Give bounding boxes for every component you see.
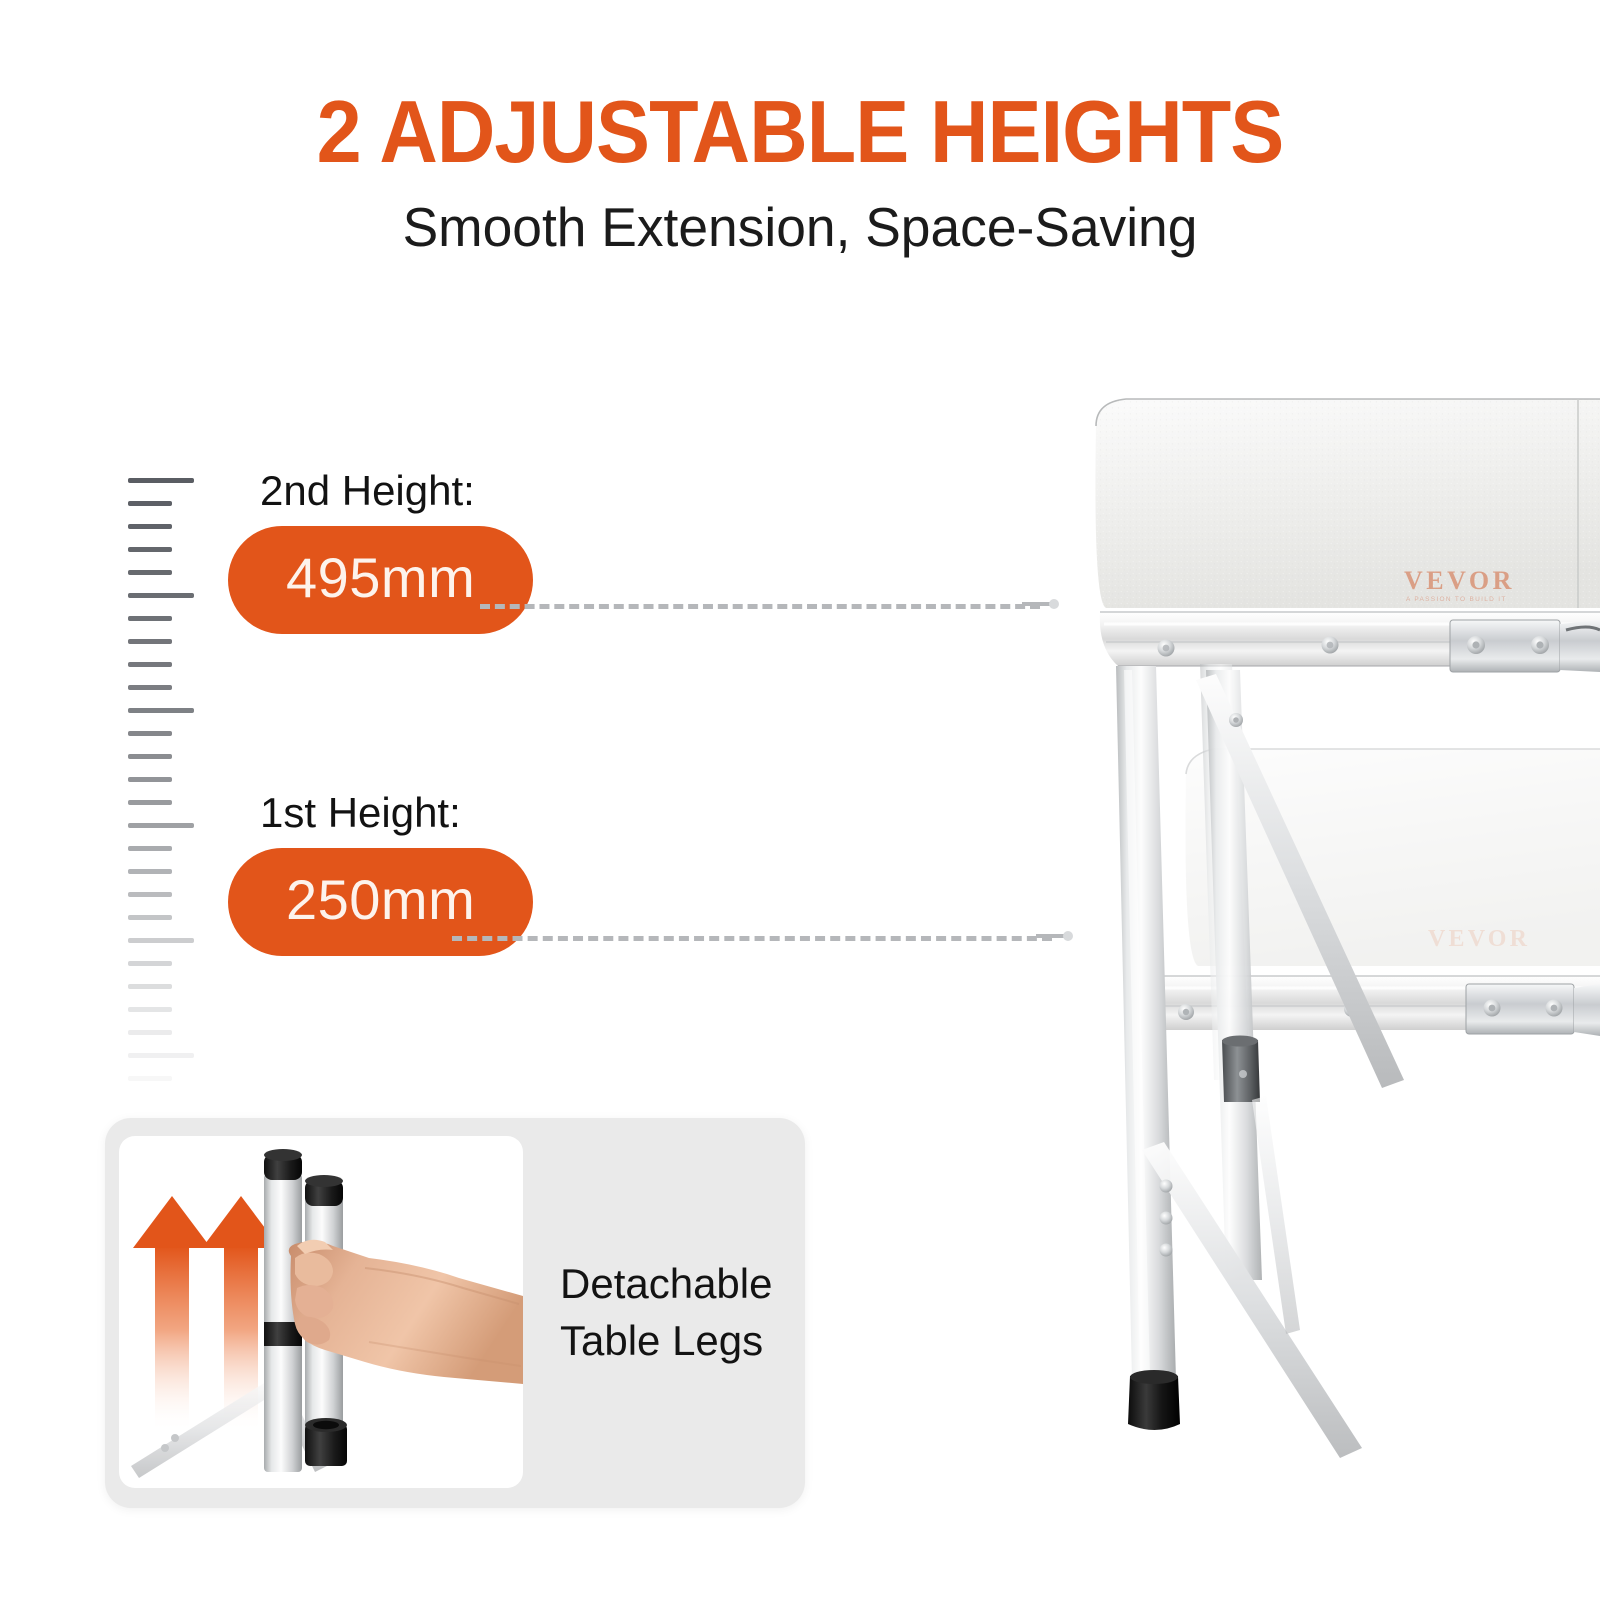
ruler-tick (128, 708, 194, 713)
ruler-tick (128, 570, 172, 575)
ruler-tick (128, 685, 172, 690)
hinge-plate-upper (1450, 620, 1600, 672)
ruler-tick (128, 984, 172, 989)
second-height-label: 2nd Height: (260, 470, 533, 512)
ruler-tick (128, 1076, 172, 1081)
leader-endpoint-lower (1036, 931, 1073, 941)
ruler-tick (128, 1030, 172, 1035)
ruler-tick (128, 731, 172, 736)
table-top-upper: VEVOR A PASSION TO BUILD IT (1085, 390, 1600, 672)
leader-endpoint-upper (1022, 599, 1059, 609)
up-arrow-icon (133, 1196, 211, 1432)
ruler-tick (128, 547, 172, 552)
table-leg-front (1116, 666, 1180, 1430)
svg-text:VEVOR: VEVOR (1404, 566, 1515, 595)
ruler-tick (128, 639, 172, 644)
ruler-tick (128, 754, 172, 759)
leg-collar (1222, 1036, 1260, 1103)
ruler-tick (128, 869, 172, 874)
ruler-tick (128, 915, 172, 920)
second-height-badge: 495mm (228, 526, 533, 634)
svg-text:VEVOR: VEVOR (1428, 926, 1530, 952)
caption-line-1: Detachable (560, 1256, 772, 1313)
ruler-tick (128, 800, 172, 805)
ruler-tick (128, 1007, 172, 1012)
ruler-tick (128, 501, 172, 506)
ruler-tick (128, 524, 172, 529)
leader-line-first-height (452, 936, 1052, 941)
ruler-tick (128, 823, 194, 828)
ruler-tick (128, 662, 172, 667)
ruler-tick (128, 593, 194, 598)
leader-line-second-height (480, 604, 1040, 609)
caption-line-2: Table Legs (560, 1313, 772, 1370)
callout-second-height: 2nd Height: 495mm (228, 470, 533, 634)
ruler-tick (128, 892, 172, 897)
detachable-legs-panel: Detachable Table Legs (105, 1118, 805, 1508)
callout-first-height: 1st Height: 250mm (228, 792, 533, 956)
page-subtitle: Smooth Extension, Space-Saving (24, 200, 1576, 255)
height-ruler (128, 478, 214, 1078)
vevor-logo-lower: VEVOR (1428, 926, 1530, 952)
first-height-label: 1st Height: (260, 792, 533, 834)
vevor-logo-upper: VEVOR A PASSION TO BUILD IT (1404, 566, 1515, 603)
ruler-tick (128, 1053, 194, 1058)
ruler-tick (128, 846, 172, 851)
product-photo: VEVOR A PASSION TO BUILD IT (1000, 380, 1600, 1500)
ruler-tick (128, 478, 194, 483)
detached-foot-cap (305, 1418, 347, 1466)
ruler-tick (128, 777, 172, 782)
svg-text:A PASSION TO BUILD IT: A PASSION TO BUILD IT (1406, 596, 1507, 603)
ruler-tick (128, 938, 194, 943)
detachable-legs-photo (119, 1136, 523, 1488)
detachable-legs-caption: Detachable Table Legs (560, 1256, 772, 1369)
hinge-plate-lower (1466, 984, 1600, 1036)
leg-foot-cap (1128, 1370, 1180, 1430)
ruler-tick (128, 616, 172, 621)
ruler-tick (128, 961, 172, 966)
page-title: 2 ADJUSTABLE HEIGHTS (64, 88, 1536, 176)
